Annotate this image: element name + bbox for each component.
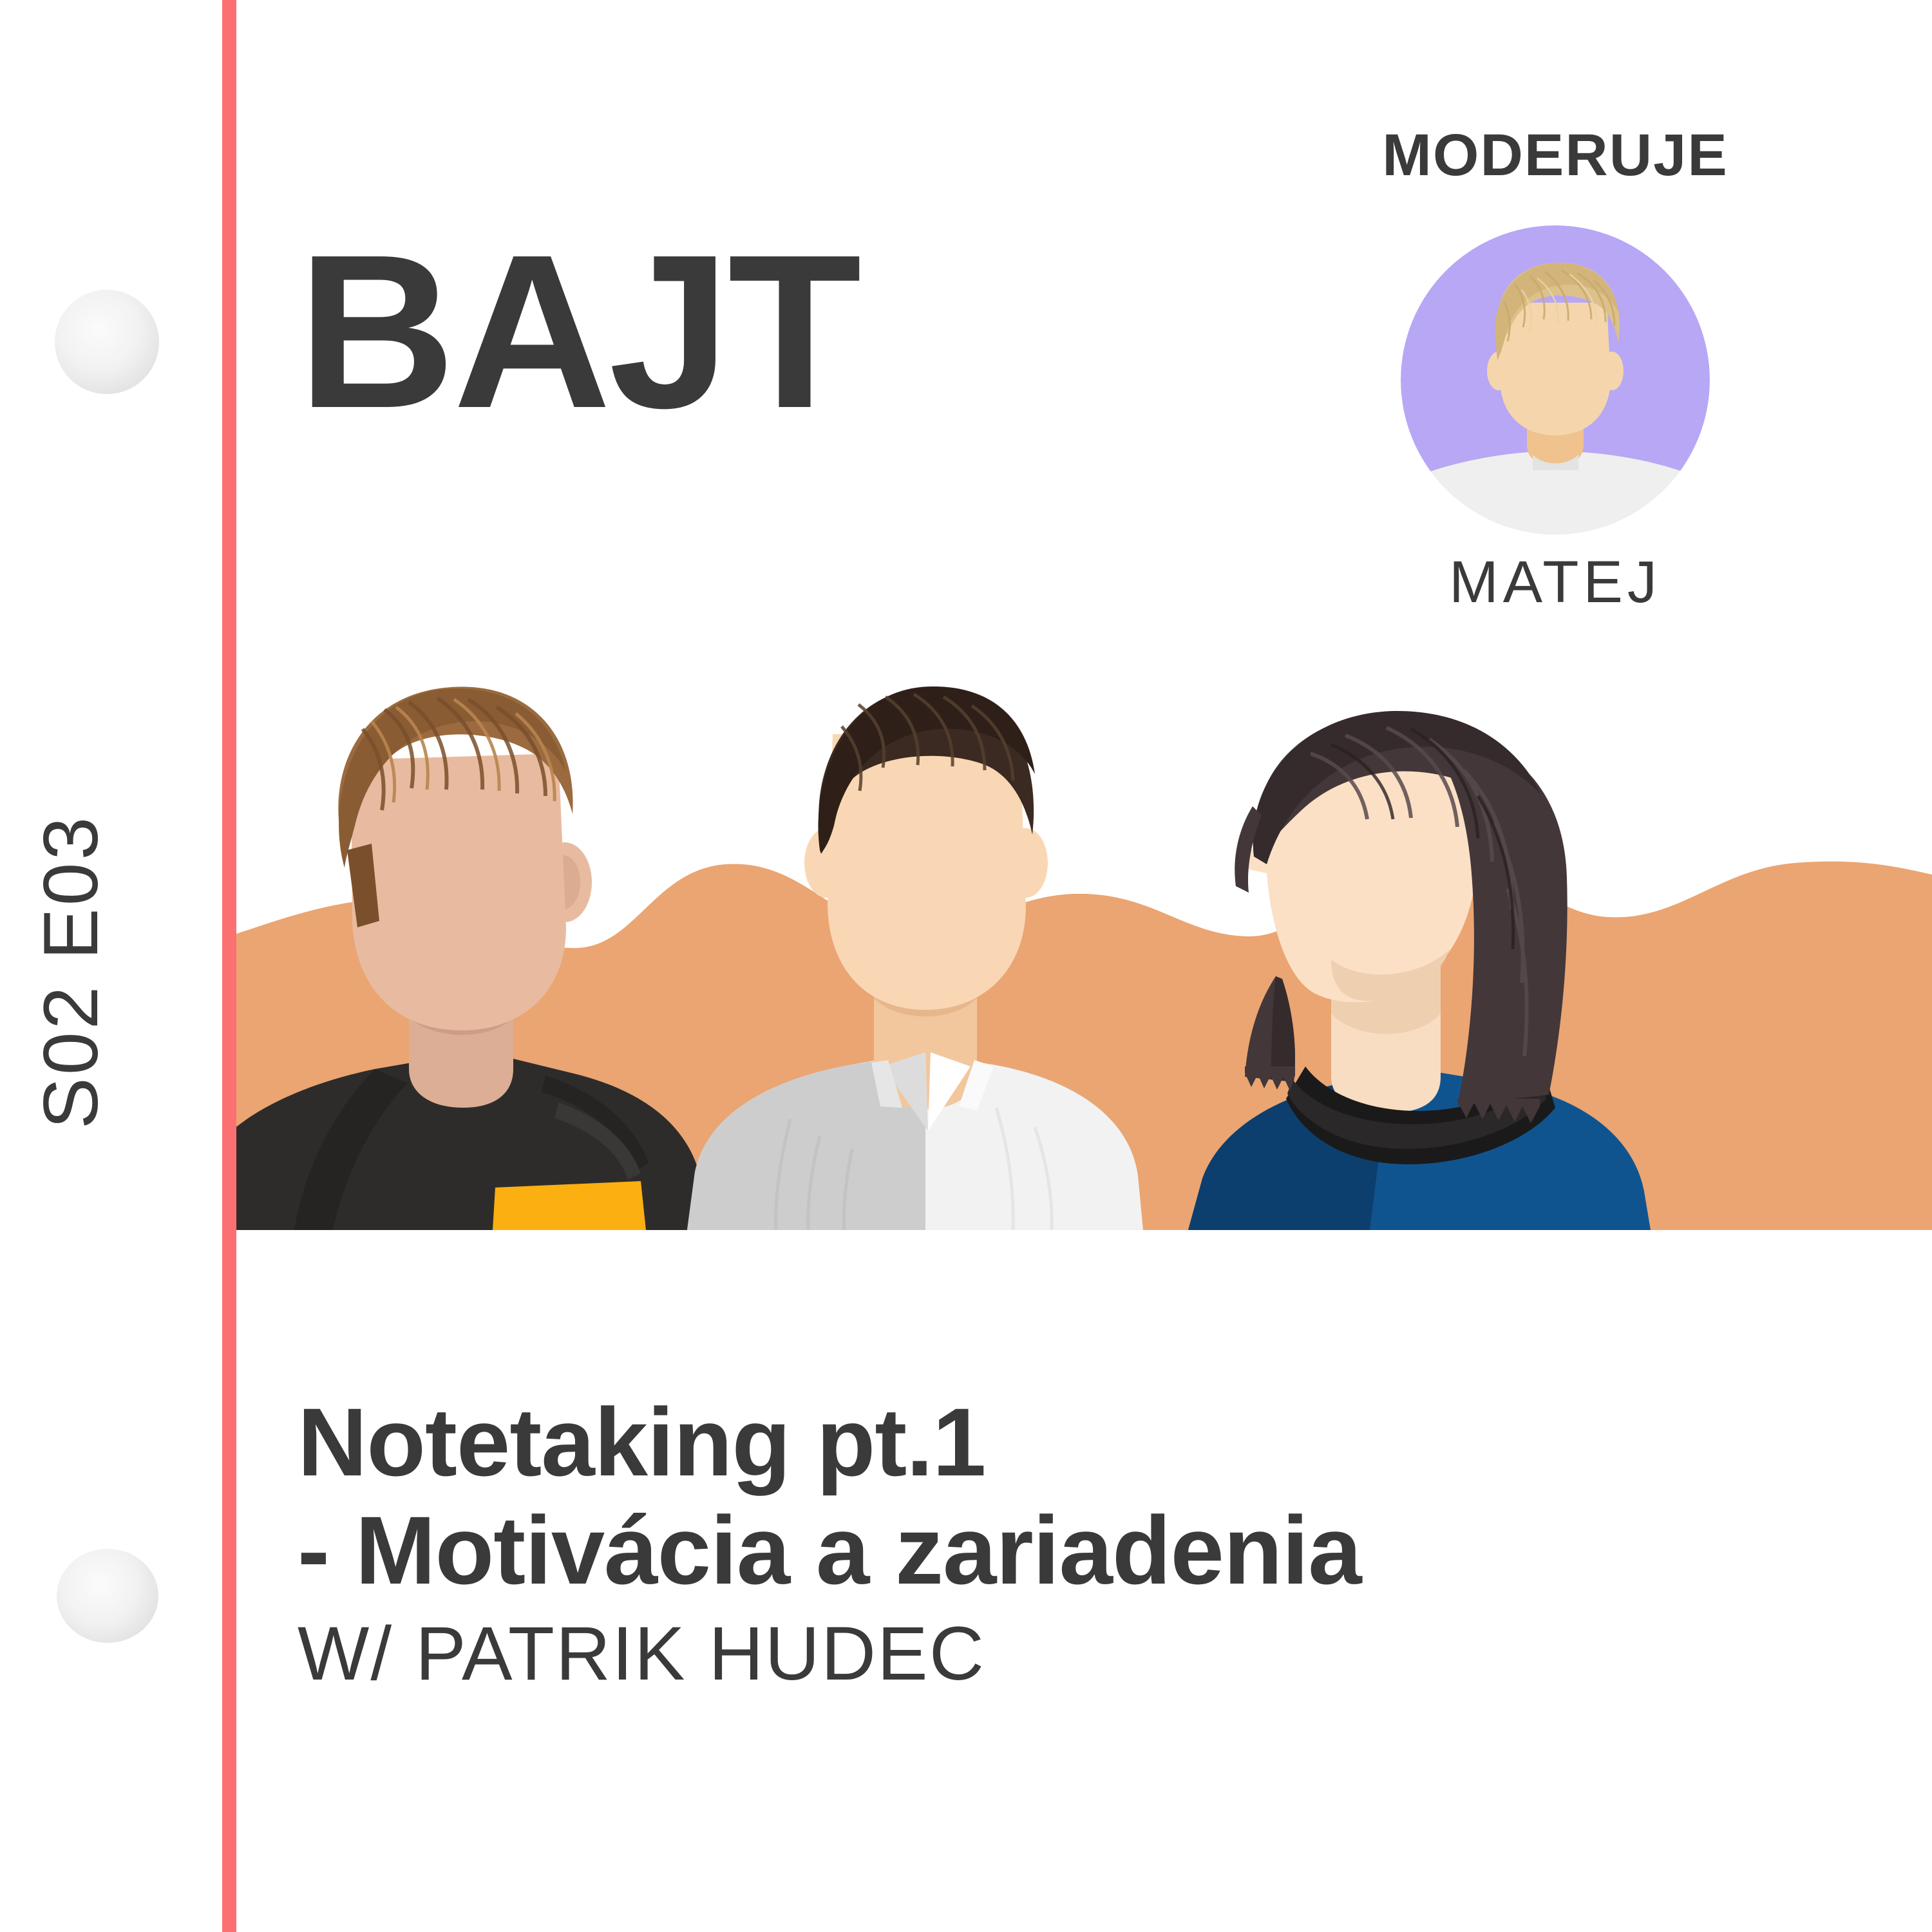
host-name: MATEJ [1349,553,1761,612]
host-role-label: MODERUJE [1349,126,1761,185]
hoodie-accent-patch [493,1181,646,1230]
binder-hole-bottom [57,1549,158,1643]
host-avatar-illustration [1401,225,1710,535]
episode-block: Notetaking pt.1 - Motivácia a zariadenia… [298,1388,1843,1692]
spine-accent-line [222,0,236,1932]
episode-guest-credit: W/ PATRIK HUDEC [298,1616,1843,1692]
binder-hole-top [55,290,159,394]
host-avatar [1401,225,1710,535]
guests-illustration-svg [236,657,1932,1230]
show-title: BAJT [298,222,859,441]
guests-illustration [236,657,1932,1230]
host-block: MODERUJE [1349,126,1761,612]
season-episode-label: S02 E03 [26,791,115,1152]
episode-title-line-1: Notetaking pt.1 [298,1388,1843,1496]
episode-title-line-2: - Motivácia a zariadenia [298,1496,1843,1604]
podcast-cover: S02 E03 BAJT MODERUJE [0,0,1932,1932]
